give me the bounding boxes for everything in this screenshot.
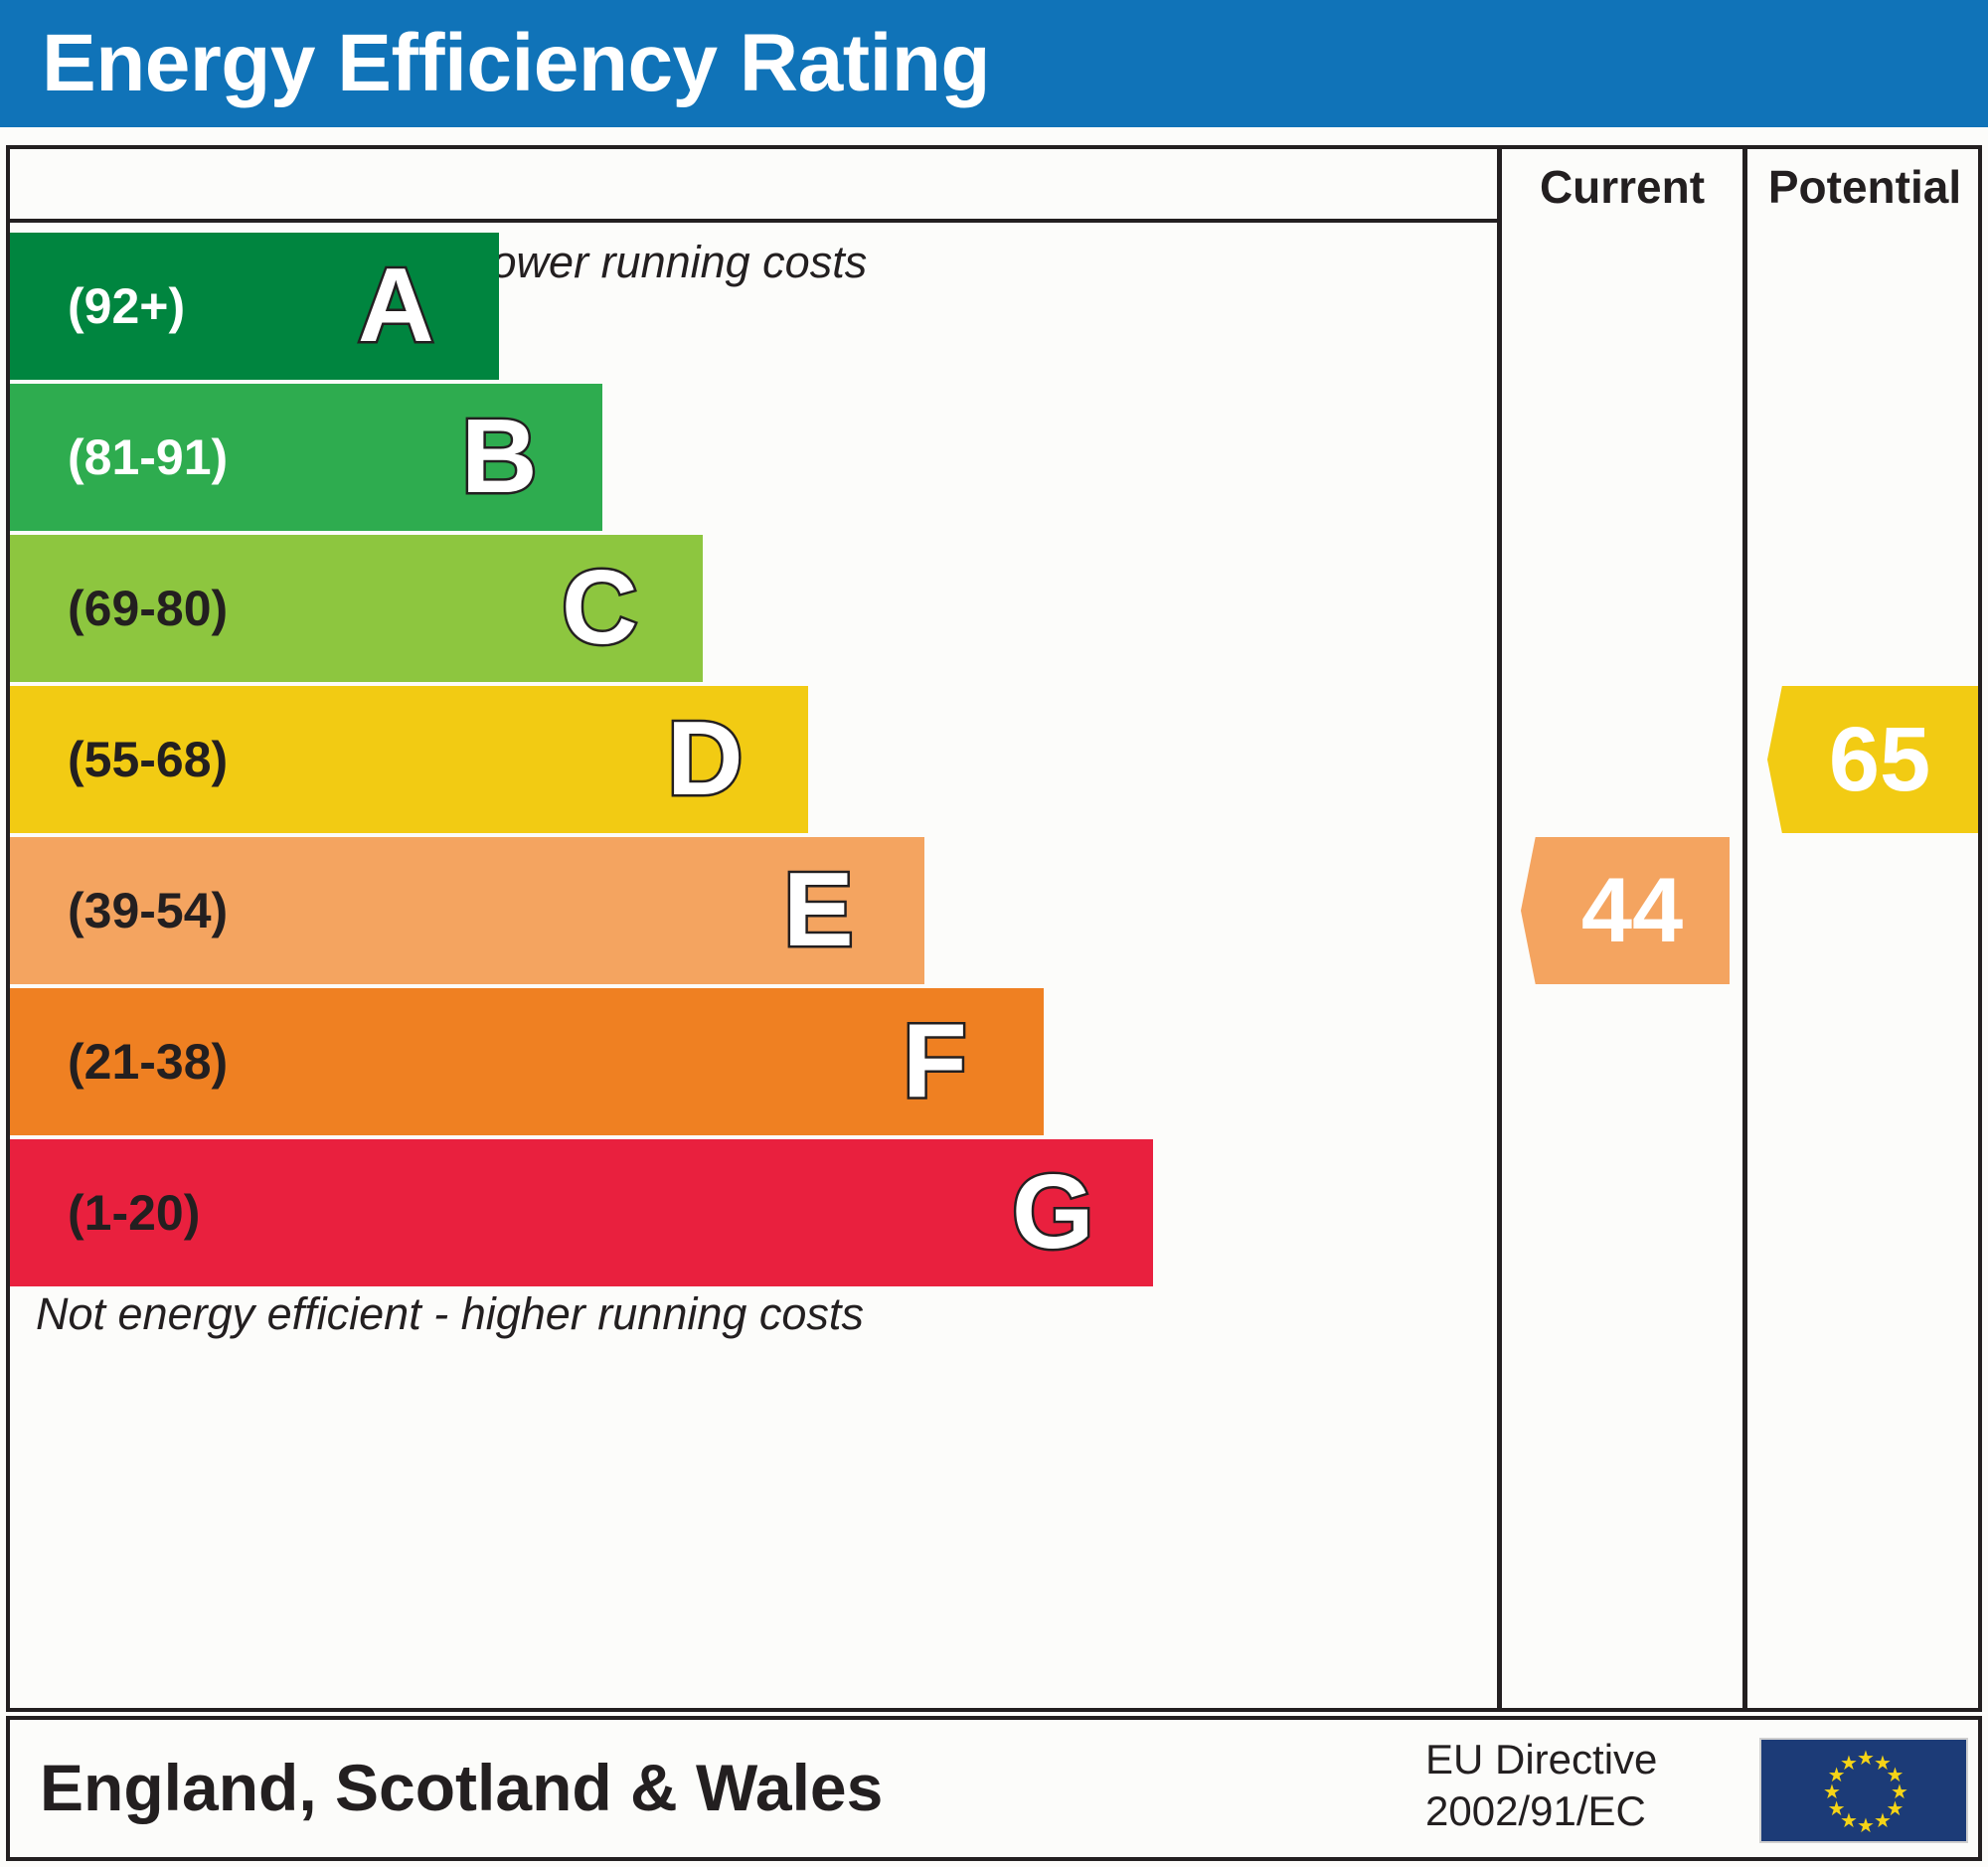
band-letter-d: D <box>667 686 744 833</box>
eu-star-icon: ★ <box>1857 1749 1875 1769</box>
eu-star-icon: ★ <box>1857 1816 1875 1836</box>
eu-star-icon: ★ <box>1874 1811 1892 1831</box>
band-letter-f: F <box>903 988 967 1135</box>
column-header-current: Current <box>1502 155 1742 219</box>
header-divider <box>10 219 1501 223</box>
band-list: (92+) A (81-91) B (69-80) C (55-68) D (3… <box>10 233 1497 1290</box>
column-divider-current <box>1497 149 1502 1708</box>
band-row-g: (1-20) G <box>10 1139 1153 1286</box>
current-rating-value: 44 <box>1521 837 1730 984</box>
band-range-d: (55-68) <box>68 686 228 833</box>
rating-table: Current Potential Very energy efficient … <box>6 145 1982 1712</box>
band-row-a: (92+) A <box>10 233 499 380</box>
band-letter-b: B <box>461 384 538 531</box>
band-letter-e: E <box>783 837 854 984</box>
footer-bar: England, Scotland & Wales EU Directive 2… <box>6 1716 1982 1861</box>
band-row-c: (69-80) C <box>10 535 703 682</box>
potential-rating-value: 65 <box>1767 686 1978 833</box>
band-range-b: (81-91) <box>68 384 228 531</box>
eu-flag-icon: ★★★★★★★★★★★★ <box>1759 1738 1968 1843</box>
band-row-d: (55-68) D <box>10 686 808 833</box>
column-divider-potential <box>1742 149 1747 1708</box>
potential-rating-arrow: 65 <box>1767 686 1978 833</box>
page-title: Energy Efficiency Rating <box>42 16 990 111</box>
footer-directive-line2: 2002/91/EC <box>1425 1785 1724 1837</box>
band-range-f: (21-38) <box>68 988 228 1135</box>
band-row-f: (21-38) F <box>10 988 1044 1135</box>
band-letter-c: C <box>562 535 638 682</box>
band-range-g: (1-20) <box>68 1139 200 1286</box>
column-header-potential: Potential <box>1747 155 1982 219</box>
band-letter-g: G <box>1012 1139 1093 1286</box>
footer-directive-line1: EU Directive <box>1425 1734 1724 1785</box>
title-banner: Energy Efficiency Rating <box>0 0 1988 127</box>
caption-bottom: Not energy efficient - higher running co… <box>36 1288 864 1340</box>
band-letter-a: A <box>358 233 434 380</box>
footer-region-label: England, Scotland & Wales <box>40 1740 883 1835</box>
band-row-e: (39-54) E <box>10 837 924 984</box>
current-rating-arrow: 44 <box>1521 837 1730 984</box>
band-range-e: (39-54) <box>68 837 228 984</box>
footer-directive: EU Directive 2002/91/EC <box>1425 1734 1724 1837</box>
energy-efficiency-certificate: Energy Efficiency Rating Current Potenti… <box>0 0 1988 1867</box>
band-row-b: (81-91) B <box>10 384 602 531</box>
band-range-a: (92+) <box>68 233 185 380</box>
band-range-c: (69-80) <box>68 535 228 682</box>
eu-star-icon: ★ <box>1840 1754 1858 1774</box>
